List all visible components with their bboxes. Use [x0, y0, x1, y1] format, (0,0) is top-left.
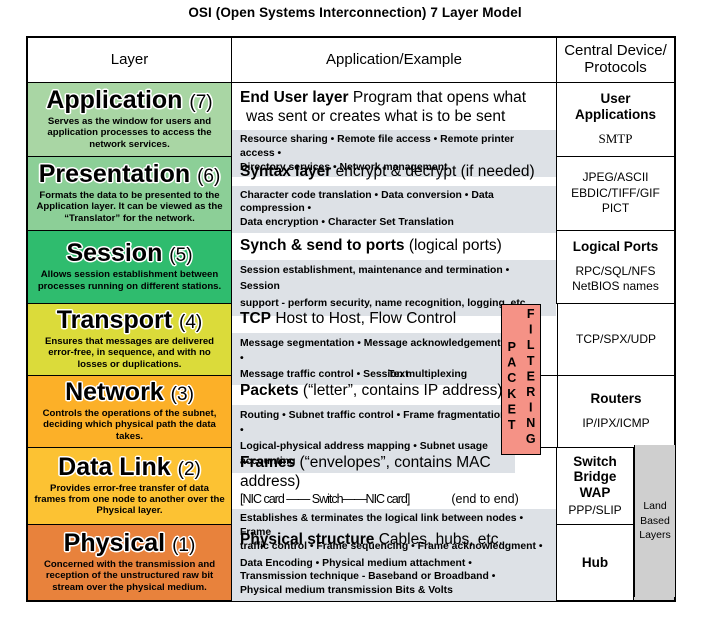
app-cell-session: Synch & send to ports (logical ports) Se…: [232, 231, 557, 303]
packet-filtering-word-packet: PACKET: [505, 340, 518, 434]
table-row-session: Session (5) Allows session establishment…: [28, 231, 674, 304]
layer-number-transport: (4): [179, 312, 202, 333]
headline-bold-network: Packets: [240, 382, 299, 399]
device-sub-application: SMTP: [599, 131, 633, 148]
device-cell-network: Routers IP/IPX/ICMP: [557, 376, 674, 447]
layer-name-transport: Transport: [57, 306, 172, 334]
layer-cell-physical: Physical (1) Concerned with the transmis…: [28, 525, 232, 600]
header-cell-application: Application/Example: [232, 38, 557, 82]
headline-line2-application: was sent or creates what is to be sent: [240, 108, 548, 127]
table-row-datalink: Data Link (2) Provides error-free transf…: [28, 448, 674, 525]
device-main-line2-application: Applications: [575, 107, 656, 123]
layer-number-network: (3): [171, 384, 194, 405]
table-row-transport: Transport (4) Ensures that messages are …: [28, 304, 674, 376]
headline-bold-presentation: Syntax layer: [240, 163, 331, 180]
device-main-line2-datalink: Bridge: [573, 469, 617, 485]
land-based-layers-box: Land Based Layers: [634, 445, 675, 597]
app-cell-application: End User layer Program that opens what w…: [232, 83, 557, 156]
device-sub-line1-session: RPC/SQL/NFS: [572, 264, 659, 279]
device-sub-line1-datalink: PPP/SLIP: [568, 503, 621, 518]
layer-name-datalink: Data Link: [58, 453, 171, 481]
header-label-device-line1: Central Device/: [564, 43, 667, 60]
layer-name-application: Application: [46, 86, 182, 114]
headline-rest-session: (logical ports): [409, 237, 502, 254]
device-cell-session: Logical Ports RPC/SQL/NFS NetBIOS names: [557, 231, 674, 303]
layer-number-datalink: (2): [178, 459, 201, 480]
headline-bold-physical: Physical structure: [240, 531, 374, 548]
details-line2-physical: Transmission technique - Baseband or Bro…: [240, 570, 548, 584]
app-cell-physical: Physical structure Cables, hubs, etc. Da…: [232, 525, 557, 600]
layer-number-session: (5): [169, 245, 192, 266]
details-line2b-presentation: Character Set Translation: [328, 217, 454, 228]
header-label-device-line2: Protocols: [564, 60, 667, 77]
layer-number-physical: (1): [172, 535, 195, 556]
device-cell-application: User Applications SMTP: [557, 83, 674, 156]
device-sub-line1-transport: TCP/SPX/UDP: [576, 332, 656, 347]
table-row-network: Network (3) Controls the operations of t…: [28, 376, 674, 448]
page-title: OSI (Open Systems Interconnection) 7 Lay…: [0, 5, 710, 20]
layer-cell-session: Session (5) Allows session establishment…: [28, 231, 232, 303]
osi-table: Layer Application/Example Central Device…: [26, 36, 676, 602]
details-line1-network: Routing • Subnet traffic control • Frame…: [240, 408, 507, 439]
details-physical: Data Encoding • Physical medium attachme…: [232, 554, 556, 601]
details-presentation: Character code translation • Data conver…: [232, 186, 556, 233]
layer-desc-presentation: Formats the data to be presented to the …: [34, 190, 225, 224]
table-row-application: Application (7) Serves as the window for…: [28, 83, 674, 157]
header-cell-layer: Layer: [28, 38, 232, 82]
device-sub-line2-presentation: EBDIC/TIFF/GIF: [571, 186, 660, 201]
layer-name-presentation: Presentation: [39, 160, 190, 188]
layer-desc-session: Allows session establishment between pro…: [34, 269, 225, 292]
packet-filtering-word-filtering: FILTERING: [524, 307, 537, 447]
headline-endtoend-datalink: (end to end): [451, 492, 518, 506]
headline-bold-datalink: Frames: [240, 454, 295, 471]
details-line2a-presentation: Data encryption •: [240, 217, 328, 228]
layer-desc-network: Controls the operations of the subnet, d…: [34, 408, 225, 442]
layer-name-physical: Physical: [64, 529, 165, 557]
headline-rest-application: Program that opens what: [353, 89, 526, 106]
osi-model-diagram: OSI (Open Systems Interconnection) 7 Lay…: [0, 0, 710, 619]
layer-number-application: (7): [189, 92, 212, 113]
headline-rest-physical: Cables, hubs, etc.: [379, 531, 503, 548]
layer-cell-presentation: Presentation (6) Formats the data to be …: [28, 157, 232, 230]
layer-name-network: Network: [65, 378, 164, 406]
packet-filtering-box: PACKET FILTERING: [501, 304, 541, 455]
layer-cell-network: Network (3) Controls the operations of t…: [28, 376, 232, 447]
device-main-line3-datalink: WAP: [573, 485, 617, 501]
device-sub-line1-network: IP/IPX/ICMP: [582, 416, 649, 431]
device-cell-datalink: Switch Bridge WAP PPP/SLIP: [557, 448, 633, 524]
device-sub-line2-session: NetBIOS names: [572, 279, 659, 294]
device-cell-physical: Hub: [557, 525, 633, 600]
land-based-line1: Land: [639, 499, 671, 514]
layer-name-session: Session: [66, 239, 162, 267]
headline-bold-application: End User layer: [240, 89, 349, 106]
details-line1-transport: Message segmentation • Message acknowled…: [240, 336, 507, 367]
headline-rest-transport: Host to Host, Flow Control: [275, 310, 456, 327]
details-line1-session: Session establishment, maintenance and t…: [240, 263, 548, 296]
table-row-presentation: Presentation (6) Formats the data to be …: [28, 157, 674, 231]
header-cell-device: Central Device/ Protocols: [557, 38, 674, 82]
device-main-line1-datalink: Switch: [573, 454, 617, 470]
headline-bold-transport: TCP: [240, 310, 271, 327]
layer-cell-datalink: Data Link (2) Provides error-free transf…: [28, 448, 232, 524]
land-based-line2: Based: [639, 514, 671, 529]
layer-cell-application: Application (7) Serves as the window for…: [28, 83, 232, 156]
device-main-physical: Hub: [582, 555, 608, 571]
table-header-row: Layer Application/Example Central Device…: [28, 38, 674, 83]
device-main-network: Routers: [590, 391, 641, 407]
layer-desc-application: Serves as the window for users and appli…: [34, 116, 225, 150]
device-cell-transport: TCP/SPX/UDP: [557, 304, 674, 375]
table-row-physical: Physical (1) Concerned with the transmis…: [28, 525, 674, 600]
device-cell-presentation: JPEG/ASCII EBDIC/TIFF/GIF PICT: [557, 157, 674, 230]
layer-desc-transport: Ensures that messages are delivered erro…: [34, 336, 225, 370]
layer-number-presentation: (6): [197, 166, 220, 187]
layer-cell-transport: Transport (4) Ensures that messages are …: [28, 304, 232, 375]
details-line3-physical: Physical medium transmission Bits & Volt…: [240, 584, 548, 598]
headline-nic-datalink: [NIC card —— Switch——NIC card]: [240, 492, 409, 506]
device-main-session: Logical Ports: [573, 239, 659, 255]
layer-desc-datalink: Provides error-free transfer of data fra…: [34, 483, 225, 517]
headline-bold-session: Synch & send to ports: [240, 237, 405, 254]
device-main-line1-application: User: [575, 91, 656, 107]
app-cell-presentation: Syntax layer encrypt & decrypt (if neede…: [232, 157, 557, 230]
app-cell-datalink: Frames (“envelopes”, contains MAC addres…: [232, 448, 557, 524]
layer-desc-physical: Concerned with the transmission and rece…: [34, 559, 225, 593]
header-label-layer: Layer: [111, 52, 149, 69]
headline-rest-network: (“letter”, contains IP address): [303, 382, 503, 399]
land-based-line3: Layers: [639, 528, 671, 543]
device-sub-line3-presentation: PICT: [571, 201, 660, 216]
details-line1-physical: Data Encoding • Physical medium attachme…: [240, 557, 548, 571]
headline-rest-presentation: encrypt & decrypt (if needed): [336, 163, 535, 180]
details-line1-presentation: Character code translation • Data conver…: [240, 189, 548, 216]
device-sub-line1-presentation: JPEG/ASCII: [571, 170, 660, 185]
header-label-application: Application/Example: [326, 52, 462, 69]
